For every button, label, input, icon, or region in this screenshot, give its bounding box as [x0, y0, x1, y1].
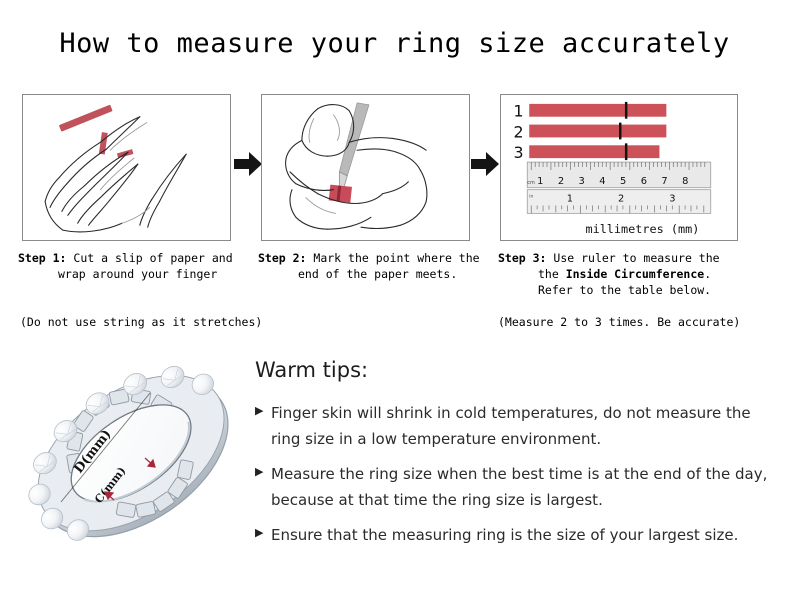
bullet-triangle-icon-2: ▶	[255, 461, 271, 477]
step-1-note: (Do not use string as it stretches)	[20, 315, 262, 329]
bullet-triangle-icon-3: ▶	[255, 522, 271, 538]
paper-strip-2	[529, 125, 666, 138]
step-3-line1: Use ruler to measure the	[553, 251, 719, 265]
step-1-line1: Cut a slip of paper and	[73, 251, 232, 265]
strip-number-1: 1	[513, 102, 523, 121]
svg-text:1: 1	[567, 194, 573, 205]
tip-item-1: ▶ Finger skin will shrink in cold temper…	[255, 400, 775, 452]
ruler-metric-scale: cm 1 2 3 4 5 6 7 8	[527, 162, 710, 188]
svg-text:3: 3	[669, 194, 675, 205]
svg-text:2: 2	[558, 176, 564, 187]
step-3-line3: Refer to the table below.	[498, 282, 760, 298]
svg-text:cm: cm	[527, 180, 535, 186]
strip-3-mark	[625, 143, 627, 160]
step-2-line2: end of the paper meets.	[258, 266, 493, 282]
svg-text:3: 3	[579, 176, 585, 187]
step-2-label: Step 2:	[258, 251, 306, 265]
strip-1-mark	[625, 102, 627, 119]
svg-text:in: in	[529, 194, 533, 200]
tip-text-3: Ensure that the measuring ring is the si…	[271, 522, 738, 548]
step-3-label: Step 3:	[498, 251, 546, 265]
page-title: How to measure your ring size accurately	[0, 28, 789, 59]
paper-strip-3	[529, 145, 659, 158]
svg-text:2: 2	[618, 194, 624, 205]
step-1-line2: wrap around your finger	[18, 266, 253, 282]
svg-text:1: 1	[537, 176, 543, 187]
strip-number-3: 3	[513, 143, 523, 162]
step-3-line2: the Inside Circumference.	[498, 266, 760, 282]
step-3-caption: Step 3: Use ruler to measure the the Ins…	[498, 250, 760, 298]
hand-marking-paper-illustration	[262, 95, 469, 240]
bullet-triangle-icon-1: ▶	[255, 400, 271, 416]
diamond-eternity-ring-illustration: D(mm) C(mm)	[18, 352, 253, 567]
strip-2-mark	[619, 123, 621, 140]
svg-text:8: 8	[682, 176, 688, 187]
svg-text:5: 5	[620, 176, 626, 187]
step-3-line2-prefix: the	[538, 267, 566, 281]
strip-number-2: 2	[513, 122, 523, 141]
svg-text:4: 4	[599, 176, 605, 187]
step-3-panel: 1 2 3 cm 1 2 3	[500, 94, 738, 241]
tip-text-2: Measure the ring size when the best time…	[271, 461, 775, 513]
tip-text-1: Finger skin will shrink in cold temperat…	[271, 400, 775, 452]
step-3-inside-circumference: Inside Circumference	[566, 267, 704, 281]
steps-row: 1 2 3 cm 1 2 3	[0, 94, 789, 244]
svg-text:6: 6	[641, 176, 647, 187]
step-1-caption: Step 1: Cut a slip of paper and wrap aro…	[18, 250, 253, 282]
tip-item-3: ▶ Ensure that the measuring ring is the …	[255, 522, 775, 548]
step-2-line1: Mark the point where the	[313, 251, 479, 265]
paper-strip-1	[529, 104, 666, 117]
step-1-panel	[22, 94, 231, 241]
step-3-line2-suffix: .	[704, 267, 711, 281]
arrow-right-icon-1	[233, 150, 263, 178]
step-1-label: Step 1:	[18, 251, 66, 265]
tip-item-2: ▶ Measure the ring size when the best ti…	[255, 461, 775, 513]
warm-tips-heading: Warm tips:	[255, 358, 775, 382]
svg-text:7: 7	[661, 176, 667, 187]
ruler-caption: millimetres (mm)	[585, 222, 699, 236]
hand-with-paper-slip-illustration	[23, 95, 230, 240]
arrow-right-icon-2	[470, 150, 500, 178]
warm-tips-section: Warm tips: ▶ Finger skin will shrink in …	[255, 358, 775, 557]
step-2-panel	[261, 94, 470, 241]
ring-diagram: D(mm) C(mm)	[18, 352, 253, 567]
strips-and-ruler-illustration: 1 2 3 cm 1 2 3	[501, 95, 737, 240]
step-3-note: (Measure 2 to 3 times. Be accurate)	[498, 315, 740, 329]
ruler-imperial-scale: in 1 2 3	[527, 190, 710, 214]
step-2-caption: Step 2: Mark the point where the end of …	[258, 250, 493, 282]
